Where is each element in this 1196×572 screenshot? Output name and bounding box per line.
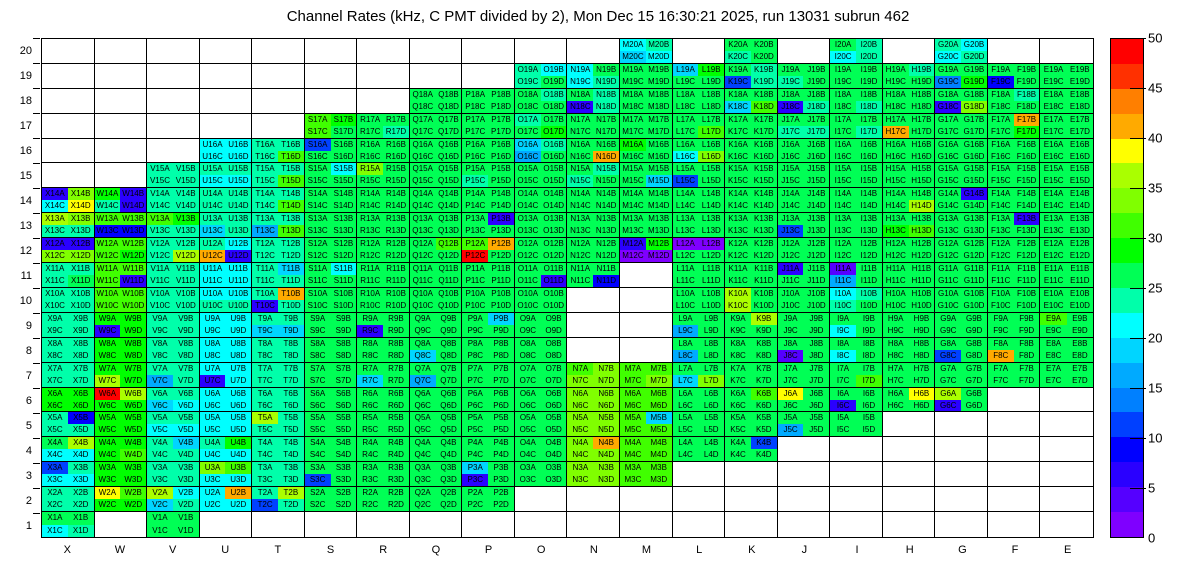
heatmap-subcell[interactable]: V10D [173,300,199,312]
heatmap-subcell[interactable]: V11C [147,275,173,287]
heatmap-subcell[interactable]: W7B [120,363,146,375]
heatmap-cell[interactable]: I17AI17BI17CI17D [830,114,883,139]
heatmap-cell[interactable]: R5AR5BR5CR5D [357,412,410,437]
heatmap-subcell[interactable]: U14C [200,200,226,212]
heatmap-subcell[interactable]: N14C [567,200,593,212]
heatmap-subcell[interactable]: J5C [778,424,804,436]
heatmap-subcell[interactable]: G18C [935,101,961,113]
heatmap-cell[interactable]: K9AK9BK9CK9D [725,313,778,338]
heatmap-subcell[interactable]: U16C [200,151,226,163]
heatmap-subcell[interactable]: F19D [1014,76,1040,88]
heatmap-subcell[interactable]: G17B [961,114,987,126]
heatmap-subcell[interactable]: O10B [541,288,567,300]
heatmap-subcell[interactable]: U4A [200,437,226,449]
heatmap-subcell[interactable]: K18A [725,89,751,101]
heatmap-subcell[interactable]: L13A [673,213,699,225]
heatmap-cell[interactable]: U8AU8BU8CU8D [200,338,253,363]
heatmap-subcell[interactable]: Q14B [436,188,462,200]
heatmap-subcell[interactable]: W11C [95,275,121,287]
heatmap-cell[interactable]: J11AJ11BJ11CJ11D [778,263,831,288]
heatmap-subcell[interactable]: S3D [331,474,357,486]
heatmap-cell[interactable]: H17AH17BH17CH17D [883,114,936,139]
heatmap-cell[interactable]: W13AW13BW13CW13D [95,213,148,238]
heatmap-subcell[interactable]: V8C [147,350,173,362]
heatmap-cell[interactable]: S11AS11BS11CS11D [305,263,358,288]
heatmap-subcell[interactable]: R3D [383,474,409,486]
heatmap-cell[interactable]: Q13AQ13BQ13CQ13D [410,213,463,238]
heatmap-subcell[interactable]: S14A [305,188,331,200]
heatmap-cell[interactable]: J12AJ12BJ12CJ12D [778,238,831,263]
heatmap-cell[interactable]: F17AF17BF17CF17D [988,114,1041,139]
heatmap-subcell[interactable]: K12B [751,238,777,250]
heatmap-subcell[interactable]: H19A [883,64,909,76]
heatmap-subcell[interactable]: E7A [1040,363,1066,375]
heatmap-cell[interactable]: E7AE7BE7CE7D [1040,363,1093,388]
heatmap-cell[interactable]: S2AS2BS2CS2D [305,487,358,512]
heatmap-cell[interactable]: I11AI11BI11CI11D [830,263,883,288]
heatmap-cell[interactable]: L14AL14BL14CL14D [673,188,726,213]
heatmap-subcell[interactable]: E14A [1040,188,1066,200]
heatmap-subcell[interactable]: E12C [1040,250,1066,262]
heatmap-subcell[interactable]: F18C [988,101,1014,113]
heatmap-subcell[interactable]: L17C [673,126,699,138]
heatmap-cell[interactable]: O10AO10BO10CO10D [515,288,568,313]
heatmap-subcell[interactable]: W9A [95,313,121,325]
heatmap-subcell[interactable]: F7D [1014,375,1040,387]
heatmap-subcell[interactable]: J6C [778,400,804,412]
heatmap-cell[interactable]: P7AP7BP7CP7D [462,363,515,388]
heatmap-subcell[interactable]: Q12B [436,238,462,250]
heatmap-subcell[interactable]: I17A [830,114,856,126]
heatmap-cell[interactable]: V8AV8BV8CV8D [147,338,200,363]
heatmap-cell[interactable]: I9AI9BI9CI9D [830,313,883,338]
heatmap-subcell[interactable]: S7A [305,363,331,375]
heatmap-cell[interactable]: W9AW9BW9CW9D [95,313,148,338]
heatmap-cell[interactable]: U14AU14BU14CU14D [200,188,253,213]
heatmap-subcell[interactable]: R15A [357,163,383,175]
heatmap-subcell[interactable]: U12C [200,250,226,262]
heatmap-subcell[interactable]: M18C [620,101,646,113]
heatmap-cell[interactable]: Q9AQ9BQ9CQ9D [410,313,463,338]
heatmap-subcell[interactable]: S2D [331,499,357,511]
heatmap-subcell[interactable]: F16B [1014,139,1040,151]
heatmap-subcell[interactable]: W9C [95,325,121,337]
heatmap-subcell[interactable]: L14B [698,188,724,200]
heatmap-subcell[interactable]: T8A [252,338,278,350]
heatmap-cell[interactable]: W11AW11BW11CW11D [95,263,148,288]
heatmap-subcell[interactable]: T3D [278,474,304,486]
heatmap-subcell[interactable]: J16B [803,139,829,151]
heatmap-cell[interactable]: G9AG9BG9CG9D [935,313,988,338]
heatmap-subcell[interactable]: X14B [68,188,94,200]
heatmap-subcell[interactable]: U10D [225,300,251,312]
heatmap-subcell[interactable]: L16C [673,151,699,163]
heatmap-cell[interactable]: K20AK20BK20CK20D [725,39,778,64]
heatmap-subcell[interactable]: Q10A [410,288,436,300]
heatmap-subcell[interactable]: O6D [541,400,567,412]
heatmap-subcell[interactable]: M7B [646,363,672,375]
heatmap-subcell[interactable]: E13C [1040,225,1066,237]
heatmap-subcell[interactable]: I6C [830,400,856,412]
heatmap-subcell[interactable]: K9A [725,313,751,325]
heatmap-cell[interactable]: X13AX13BX13CX13D [42,213,95,238]
heatmap-subcell[interactable]: P14A [462,188,488,200]
heatmap-subcell[interactable]: G9C [935,325,961,337]
heatmap-subcell[interactable]: P2A [462,487,488,499]
heatmap-subcell[interactable]: W2C [95,499,121,511]
heatmap-subcell[interactable]: O8A [515,338,541,350]
heatmap-subcell[interactable]: L19A [673,64,699,76]
heatmap-subcell[interactable]: I7C [830,375,856,387]
heatmap-subcell[interactable]: P7D [488,375,514,387]
heatmap-subcell[interactable]: Q6A [410,388,436,400]
heatmap-subcell[interactable]: W4B [120,437,146,449]
heatmap-subcell[interactable]: W12A [95,238,121,250]
heatmap-subcell[interactable]: G12C [935,250,961,262]
heatmap-subcell[interactable]: U5D [225,424,251,436]
heatmap-subcell[interactable]: V14A [147,188,173,200]
heatmap-subcell[interactable]: T12D [278,250,304,262]
heatmap-subcell[interactable]: I15A [830,163,856,175]
heatmap-cell[interactable]: R11AR11BR11CR11D [357,263,410,288]
heatmap-subcell[interactable]: M16B [646,139,672,151]
heatmap-subcell[interactable]: R13A [357,213,383,225]
heatmap-subcell[interactable]: P4A [462,437,488,449]
heatmap-subcell[interactable]: T15C [252,175,278,187]
heatmap-cell[interactable]: R10AR10BR10CR10D [357,288,410,313]
heatmap-subcell[interactable]: K11D [751,275,777,287]
heatmap-subcell[interactable]: R7B [383,363,409,375]
heatmap-subcell[interactable]: F14D [1014,200,1040,212]
heatmap-subcell[interactable]: G10B [961,288,987,300]
heatmap-subcell[interactable]: V10B [173,288,199,300]
heatmap-subcell[interactable]: O6A [515,388,541,400]
heatmap-subcell[interactable]: R4D [383,449,409,461]
heatmap-subcell[interactable]: P5B [488,412,514,424]
heatmap-cell[interactable]: Q10AQ10BQ10CQ10D [410,288,463,313]
heatmap-subcell[interactable]: I11A [830,263,856,275]
heatmap-cell[interactable]: M18AM18BM18CM18D [620,89,673,114]
heatmap-cell[interactable]: P2AP2BP2CP2D [462,487,515,512]
heatmap-subcell[interactable]: K18C [725,101,751,113]
heatmap-subcell[interactable]: E13B [1067,213,1093,225]
heatmap-subcell[interactable]: U7C [200,375,226,387]
heatmap-subcell[interactable]: S8A [305,338,331,350]
heatmap-subcell[interactable]: F10C [988,300,1014,312]
heatmap-cell[interactable]: V2AV2BV2CV2D [147,487,200,512]
heatmap-cell[interactable]: R3AR3BR3CR3D [357,462,410,487]
heatmap-subcell[interactable]: H8A [883,338,909,350]
heatmap-subcell[interactable]: L6D [698,400,724,412]
heatmap-subcell[interactable]: H18A [883,89,909,101]
heatmap-subcell[interactable]: S12B [331,238,357,250]
heatmap-cell[interactable]: X11AX11BX11CX11D [42,263,95,288]
heatmap-subcell[interactable]: H19B [909,64,935,76]
heatmap-subcell[interactable]: O5D [541,424,567,436]
heatmap-subcell[interactable]: J7A [778,363,804,375]
heatmap-subcell[interactable]: U4C [200,449,226,461]
heatmap-cell[interactable]: V3AV3BV3CV3D [147,462,200,487]
heatmap-subcell[interactable]: F7C [988,375,1014,387]
heatmap-subcell[interactable]: V9B [173,313,199,325]
heatmap-cell[interactable]: V9AV9BV9CV9D [147,313,200,338]
heatmap-subcell[interactable]: E18C [1040,101,1066,113]
heatmap-subcell[interactable]: Q12A [410,238,436,250]
heatmap-subcell[interactable]: W8A [95,338,121,350]
heatmap-cell[interactable]: Q6AQ6BQ6CQ6D [410,388,463,413]
heatmap-subcell[interactable]: I9C [830,325,856,337]
heatmap-subcell[interactable]: X8B [68,338,94,350]
heatmap-subcell[interactable]: N19D [593,76,619,88]
heatmap-subcell[interactable]: G8B [961,338,987,350]
heatmap-cell[interactable]: P16AP16BP16CP16D [462,139,515,164]
heatmap-subcell[interactable]: O5A [515,412,541,424]
heatmap-cell[interactable]: S7AS7BS7CS7D [305,363,358,388]
heatmap-subcell[interactable]: T3B [278,462,304,474]
heatmap-subcell[interactable]: N17C [567,126,593,138]
heatmap-subcell[interactable]: O10C [515,300,541,312]
heatmap-subcell[interactable]: I14D [856,200,882,212]
heatmap-subcell[interactable]: S15B [331,163,357,175]
heatmap-subcell[interactable]: G7C [935,375,961,387]
heatmap-subcell[interactable]: F10B [1014,288,1040,300]
heatmap-cell[interactable]: F15AF15BF15CF15D [988,163,1041,188]
heatmap-subcell[interactable]: X4B [68,437,94,449]
heatmap-subcell[interactable]: S5B [331,412,357,424]
heatmap-cell[interactable]: E9AE9BE9CE9D [1040,313,1093,338]
heatmap-subcell[interactable]: O9B [541,313,567,325]
heatmap-cell[interactable]: L13AL13BL13CL13D [673,213,726,238]
heatmap-subcell[interactable]: P17B [488,114,514,126]
heatmap-cell[interactable]: P11AP11BP11CP11D [462,263,515,288]
heatmap-subcell[interactable]: R6B [383,388,409,400]
heatmap-subcell[interactable]: S14B [331,188,357,200]
heatmap-subcell[interactable]: R8B [383,338,409,350]
heatmap-subcell[interactable]: J7D [803,375,829,387]
heatmap-cell[interactable]: V13AV13BV13CV13D [147,213,200,238]
heatmap-subcell[interactable]: E16C [1040,151,1066,163]
heatmap-cell[interactable]: X3AX3BX3CX3D [42,462,95,487]
heatmap-subcell[interactable]: I8D [856,350,882,362]
heatmap-subcell[interactable]: V1B [173,512,199,524]
heatmap-subcell[interactable]: O4C [515,449,541,461]
heatmap-subcell[interactable]: F16C [988,151,1014,163]
heatmap-subcell[interactable]: S8B [331,338,357,350]
heatmap-subcell[interactable]: P10C [462,300,488,312]
heatmap-cell[interactable]: O17AO17BO17CO17D [515,114,568,139]
heatmap-subcell[interactable]: N16C [567,151,593,163]
heatmap-subcell[interactable]: E13A [1040,213,1066,225]
heatmap-subcell[interactable]: S3C [305,474,331,486]
heatmap-subcell[interactable]: P6C [462,400,488,412]
heatmap-subcell[interactable]: K5C [725,424,751,436]
heatmap-subcell[interactable]: W13A [95,213,121,225]
heatmap-cell[interactable]: K15AK15BK15CK15D [725,163,778,188]
heatmap-subcell[interactable]: R16A [357,139,383,151]
heatmap-subcell[interactable]: Q6D [436,400,462,412]
heatmap-cell[interactable]: G15AG15BG15CG15D [935,163,988,188]
heatmap-cell[interactable]: M16AM16BM16CM16D [620,139,673,164]
heatmap-cell[interactable]: T16AT16BT16CT16D [252,139,305,164]
heatmap-subcell[interactable]: W13B [120,213,146,225]
heatmap-subcell[interactable]: H7C [883,375,909,387]
heatmap-subcell[interactable]: F12B [1014,238,1040,250]
heatmap-cell[interactable]: R8AR8BR8CR8D [357,338,410,363]
heatmap-subcell[interactable]: X9C [42,325,68,337]
heatmap-subcell[interactable]: L6C [673,400,699,412]
heatmap-subcell[interactable]: G17A [935,114,961,126]
heatmap-subcell[interactable]: G13A [935,213,961,225]
heatmap-subcell[interactable]: V4D [173,449,199,461]
heatmap-subcell[interactable]: I18B [856,89,882,101]
heatmap-cell[interactable]: K10AK10BK10CK10D [725,288,778,313]
heatmap-subcell[interactable]: Q13B [436,213,462,225]
heatmap-cell[interactable]: K18AK18BK18CK18D [725,89,778,114]
heatmap-cell[interactable]: M12AM12BM12CM12D [620,238,673,263]
heatmap-subcell[interactable]: V15D [173,175,199,187]
heatmap-subcell[interactable]: J10C [778,300,804,312]
heatmap-subcell[interactable]: X10B [68,288,94,300]
heatmap-subcell[interactable]: P17C [462,126,488,138]
heatmap-subcell[interactable]: K14A [725,188,751,200]
heatmap-subcell[interactable]: O13C [515,225,541,237]
heatmap-subcell[interactable]: G13C [935,225,961,237]
heatmap-subcell[interactable]: V8A [147,338,173,350]
heatmap-subcell[interactable]: S10A [305,288,331,300]
heatmap-subcell[interactable]: R11C [357,275,383,287]
heatmap-subcell[interactable]: R17B [383,114,409,126]
heatmap-subcell[interactable]: K4A [725,437,751,449]
heatmap-subcell[interactable]: E18D [1067,101,1093,113]
heatmap-subcell[interactable]: R10D [383,300,409,312]
heatmap-cell[interactable]: X6AX6BX6CX6D [42,388,95,413]
heatmap-subcell[interactable]: E12A [1040,238,1066,250]
heatmap-subcell[interactable]: E9D [1067,325,1093,337]
heatmap-subcell[interactable]: U8A [200,338,226,350]
heatmap-subcell[interactable]: H18C [883,101,909,113]
heatmap-cell[interactable]: R7AR7BR7CR7D [357,363,410,388]
heatmap-subcell[interactable]: M19D [646,76,672,88]
heatmap-subcell[interactable]: X7D [68,375,94,387]
heatmap-subcell[interactable]: K18D [751,101,777,113]
heatmap-subcell[interactable]: O18B [541,89,567,101]
heatmap-subcell[interactable]: N14D [593,200,619,212]
heatmap-cell[interactable]: L5AL5BL5CL5D [673,412,726,437]
heatmap-subcell[interactable]: X4C [42,449,68,461]
heatmap-subcell[interactable]: P15B [488,163,514,175]
heatmap-cell[interactable]: L9AL9BL9CL9D [673,313,726,338]
heatmap-cell[interactable]: Q3AQ3BQ3CQ3D [410,462,463,487]
heatmap-cell[interactable]: X5AX5BX5CX5D [42,412,95,437]
heatmap-cell[interactable]: R14AR14BR14CR14D [357,188,410,213]
heatmap-subcell[interactable]: M12B [646,238,672,250]
heatmap-subcell[interactable]: Q4A [410,437,436,449]
heatmap-subcell[interactable]: K9D [751,325,777,337]
heatmap-subcell[interactable]: P9A [462,313,488,325]
heatmap-subcell[interactable]: G9A [935,313,961,325]
heatmap-subcell[interactable]: L10D [698,300,724,312]
heatmap-subcell[interactable]: N19C [567,76,593,88]
heatmap-cell[interactable]: K16AK16BK16CK16D [725,139,778,164]
heatmap-subcell[interactable]: O18A [515,89,541,101]
heatmap-subcell[interactable]: X2C [42,499,68,511]
heatmap-subcell[interactable]: T8D [278,350,304,362]
heatmap-cell[interactable]: I7AI7BI7CI7D [830,363,883,388]
heatmap-subcell[interactable]: W8B [120,338,146,350]
heatmap-subcell[interactable]: T16B [278,139,304,151]
heatmap-subcell[interactable]: K13D [751,225,777,237]
heatmap-cell[interactable]: L12AL12BL12CL12D [673,238,726,263]
heatmap-subcell[interactable]: J8B [803,338,829,350]
heatmap-subcell[interactable]: Q2B [436,487,462,499]
heatmap-subcell[interactable]: G9D [961,325,987,337]
heatmap-subcell[interactable]: Q12D [436,250,462,262]
heatmap-subcell[interactable]: L10A [673,288,699,300]
heatmap-subcell[interactable]: H18B [909,89,935,101]
heatmap-subcell[interactable]: G6D [961,400,987,412]
heatmap-subcell[interactable]: T5A [252,412,278,424]
heatmap-subcell[interactable]: N15A [567,163,593,175]
heatmap-subcell[interactable]: R8C [357,350,383,362]
heatmap-subcell[interactable]: L18D [698,101,724,113]
heatmap-subcell[interactable]: N5B [593,412,619,424]
heatmap-subcell[interactable]: Q10B [436,288,462,300]
heatmap-subcell[interactable]: L14D [698,200,724,212]
heatmap-subcell[interactable]: W2A [95,487,121,499]
heatmap-subcell[interactable]: X5D [68,424,94,436]
heatmap-subcell[interactable]: K15B [751,163,777,175]
heatmap-subcell[interactable]: I12C [830,250,856,262]
heatmap-cell[interactable]: G14AG14BG14CG14D [935,188,988,213]
heatmap-subcell[interactable]: U2B [225,487,251,499]
heatmap-cell[interactable]: T9AT9BT9CT9D [252,313,305,338]
heatmap-subcell[interactable]: S15A [305,163,331,175]
heatmap-subcell[interactable]: M14B [646,188,672,200]
heatmap-subcell[interactable]: T10C [252,300,278,312]
heatmap-subcell[interactable]: P13D [488,225,514,237]
heatmap-subcell[interactable]: T2C [252,499,278,511]
heatmap-subcell[interactable]: E10A [1040,288,1066,300]
heatmap-subcell[interactable]: O6B [541,388,567,400]
heatmap-cell[interactable]: H11AH11BH11CH11D [883,263,936,288]
heatmap-subcell[interactable]: P6D [488,400,514,412]
heatmap-subcell[interactable]: T6D [278,400,304,412]
heatmap-subcell[interactable]: L17B [698,114,724,126]
heatmap-subcell[interactable]: I16D [856,151,882,163]
heatmap-subcell[interactable]: O5C [515,424,541,436]
heatmap-cell[interactable]: O3AO3BO3CO3D [515,462,568,487]
heatmap-subcell[interactable]: V3B [173,462,199,474]
heatmap-cell[interactable]: M5AM5BM5CM5D [620,412,673,437]
heatmap-subcell[interactable]: K20D [751,51,777,63]
heatmap-cell[interactable]: I12AI12BI12CI12D [830,238,883,263]
heatmap-cell[interactable]: S8AS8BS8CS8D [305,338,358,363]
heatmap-subcell[interactable]: F9A [988,313,1014,325]
heatmap-subcell[interactable]: X8D [68,350,94,362]
heatmap-subcell[interactable]: X5B [68,412,94,424]
heatmap-subcell[interactable]: L6B [698,388,724,400]
heatmap-subcell[interactable]: F13D [1014,225,1040,237]
heatmap-subcell[interactable]: V7B [173,363,199,375]
heatmap-subcell[interactable]: R5B [383,412,409,424]
heatmap-subcell[interactable]: M7C [620,375,646,387]
heatmap-subcell[interactable]: O5B [541,412,567,424]
heatmap-cell[interactable]: O13AO13BO13CO13D [515,213,568,238]
heatmap-cell[interactable]: I18AI18BI18CI18D [830,89,883,114]
heatmap-subcell[interactable]: J11A [778,263,804,275]
heatmap-subcell[interactable]: U11B [225,263,251,275]
heatmap-subcell[interactable]: H6B [909,388,935,400]
